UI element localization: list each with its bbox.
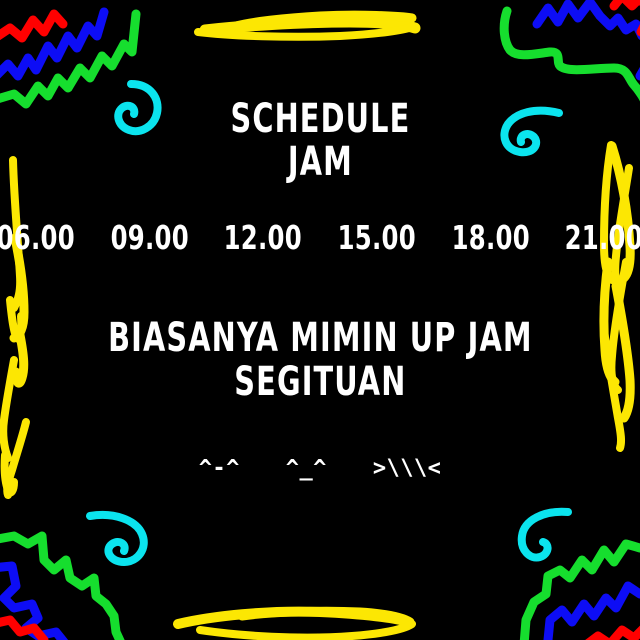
schedule-time-5: 21.00: [565, 218, 640, 257]
schedule-time-2: 12.00: [224, 218, 302, 257]
title-line-1: SCHEDULE: [230, 98, 410, 141]
title-line-2: JAM: [230, 141, 410, 184]
schedule-times-row: 06.00 09.00 12.00 15.00 18.00 21.00: [0, 218, 640, 257]
emoticon-2: >\\\<: [373, 456, 441, 481]
poster-content: SCHEDULE JAM 06.00 09.00 12.00 15.00 18.…: [0, 0, 640, 640]
emoticon-row: ^-^ ^_^ >\\\<: [199, 456, 442, 481]
emoticon-0: ^-^: [199, 456, 240, 481]
message-text: BIASANYA MIMIN UP JAM SEGITUAN: [108, 317, 533, 403]
emoticon-1: ^_^: [286, 456, 327, 481]
message-line-1: BIASANYA MIMIN UP JAM: [108, 317, 533, 360]
schedule-time-1: 09.00: [110, 218, 188, 257]
poster-canvas: SCHEDULE JAM 06.00 09.00 12.00 15.00 18.…: [0, 0, 640, 640]
message-line-2: SEGITUAN: [108, 361, 533, 404]
schedule-time-0: 06.00: [0, 218, 75, 257]
schedule-time-3: 15.00: [338, 218, 416, 257]
schedule-time-4: 18.00: [451, 218, 529, 257]
page-title: SCHEDULE JAM: [230, 98, 410, 184]
